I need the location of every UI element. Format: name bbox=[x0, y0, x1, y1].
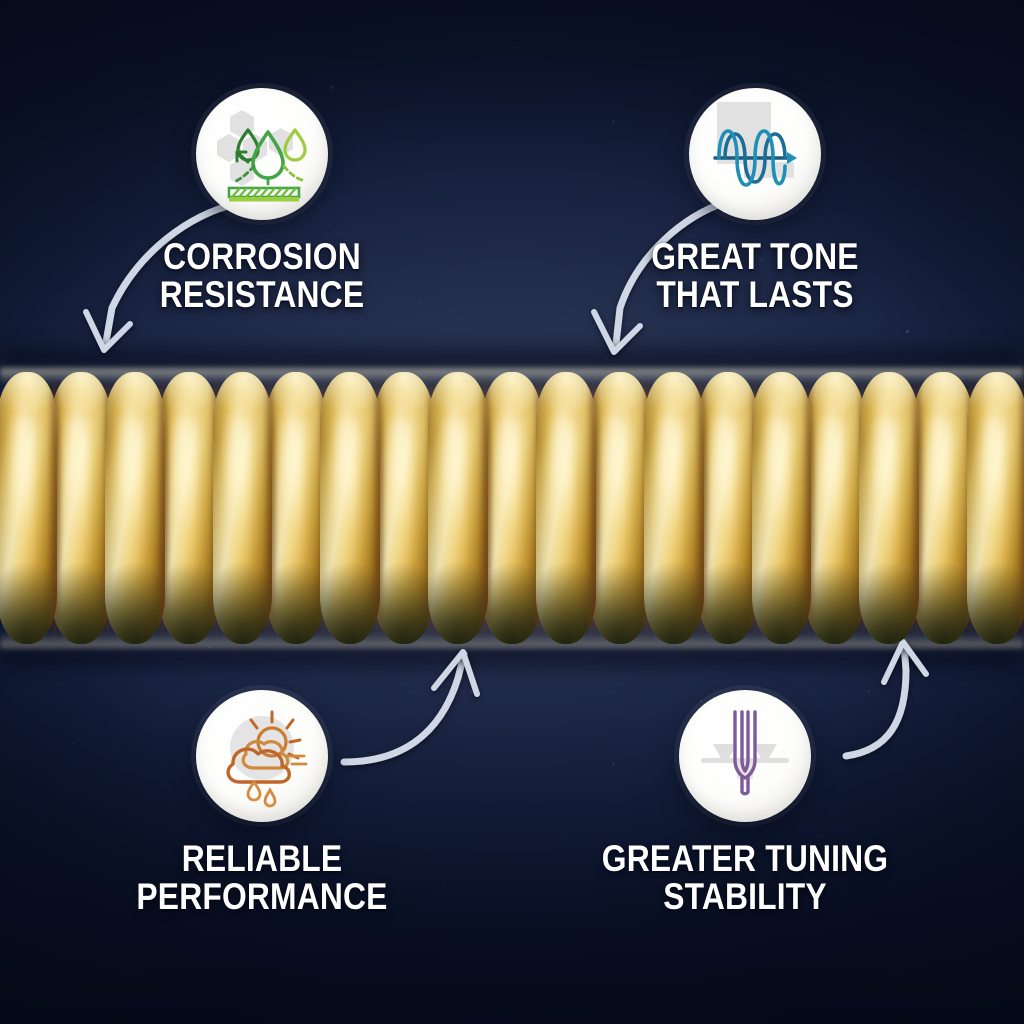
gold-coiled-string bbox=[0, 372, 1024, 644]
string-shadow-top bbox=[0, 348, 1024, 374]
string-coil-segment bbox=[51, 372, 111, 644]
string-coil-segment bbox=[590, 372, 650, 644]
string-coil-segment bbox=[698, 372, 758, 644]
string-coil-segment bbox=[482, 372, 542, 644]
string-coil-segment bbox=[374, 372, 434, 644]
string-coil-segment bbox=[644, 372, 704, 644]
string-coil-segment bbox=[266, 372, 326, 644]
feature-label-tone: GREAT TONE THAT LASTS bbox=[583, 238, 927, 313]
feature-corrosion-resistance: CORROSION RESISTANCE bbox=[62, 88, 462, 313]
feature-greater-tuning-stability: GREATER TUNING STABILITY bbox=[545, 690, 945, 915]
string-coil-segment bbox=[105, 372, 165, 644]
string-coil-segment bbox=[913, 372, 973, 644]
string-coil-segment bbox=[859, 372, 919, 644]
raindrop-left bbox=[248, 782, 260, 800]
infographic-poster: CORROSION RESISTANCE GREAT TONE THAT LAS… bbox=[0, 0, 1024, 1024]
string-coil-segment bbox=[536, 372, 596, 644]
string-coil-segment bbox=[805, 372, 865, 644]
raindrop-right bbox=[265, 790, 275, 806]
feature-label-reliable: RELIABLE PERFORMANCE bbox=[90, 840, 434, 915]
sound-wave-icon bbox=[689, 88, 821, 220]
string-coil-segment bbox=[0, 372, 57, 644]
deflect-right bbox=[284, 166, 302, 180]
feature-label-tuning: GREATER TUNING STABILITY bbox=[573, 840, 917, 915]
string-coil-segment bbox=[213, 372, 273, 644]
badge-corrosion bbox=[196, 88, 328, 220]
string-coil-segment bbox=[159, 372, 219, 644]
badge-tone bbox=[689, 88, 821, 220]
badge-tuning bbox=[679, 690, 811, 822]
string-coil-segment bbox=[967, 372, 1024, 644]
string-coil-segment bbox=[320, 372, 380, 644]
string-coil-segment bbox=[428, 372, 488, 644]
feature-reliable-performance: RELIABLE PERFORMANCE bbox=[62, 690, 462, 915]
feature-great-tone: GREAT TONE THAT LASTS bbox=[555, 88, 955, 313]
balance-scale bbox=[701, 744, 789, 779]
tuning-fork bbox=[735, 712, 755, 794]
string-coil-segments bbox=[0, 372, 1024, 644]
tuning-fork-balance-icon bbox=[679, 690, 811, 822]
string-coil-segment bbox=[752, 372, 812, 644]
badge-reliable bbox=[196, 690, 328, 822]
coating-bar bbox=[229, 188, 299, 202]
feature-label-corrosion: CORROSION RESISTANCE bbox=[90, 238, 434, 313]
hexagon-pattern bbox=[217, 110, 293, 186]
water-repellent-coating-icon bbox=[196, 88, 328, 220]
string-shadow-bottom bbox=[0, 642, 1024, 668]
sun-cloud-rain-icon bbox=[196, 690, 328, 822]
